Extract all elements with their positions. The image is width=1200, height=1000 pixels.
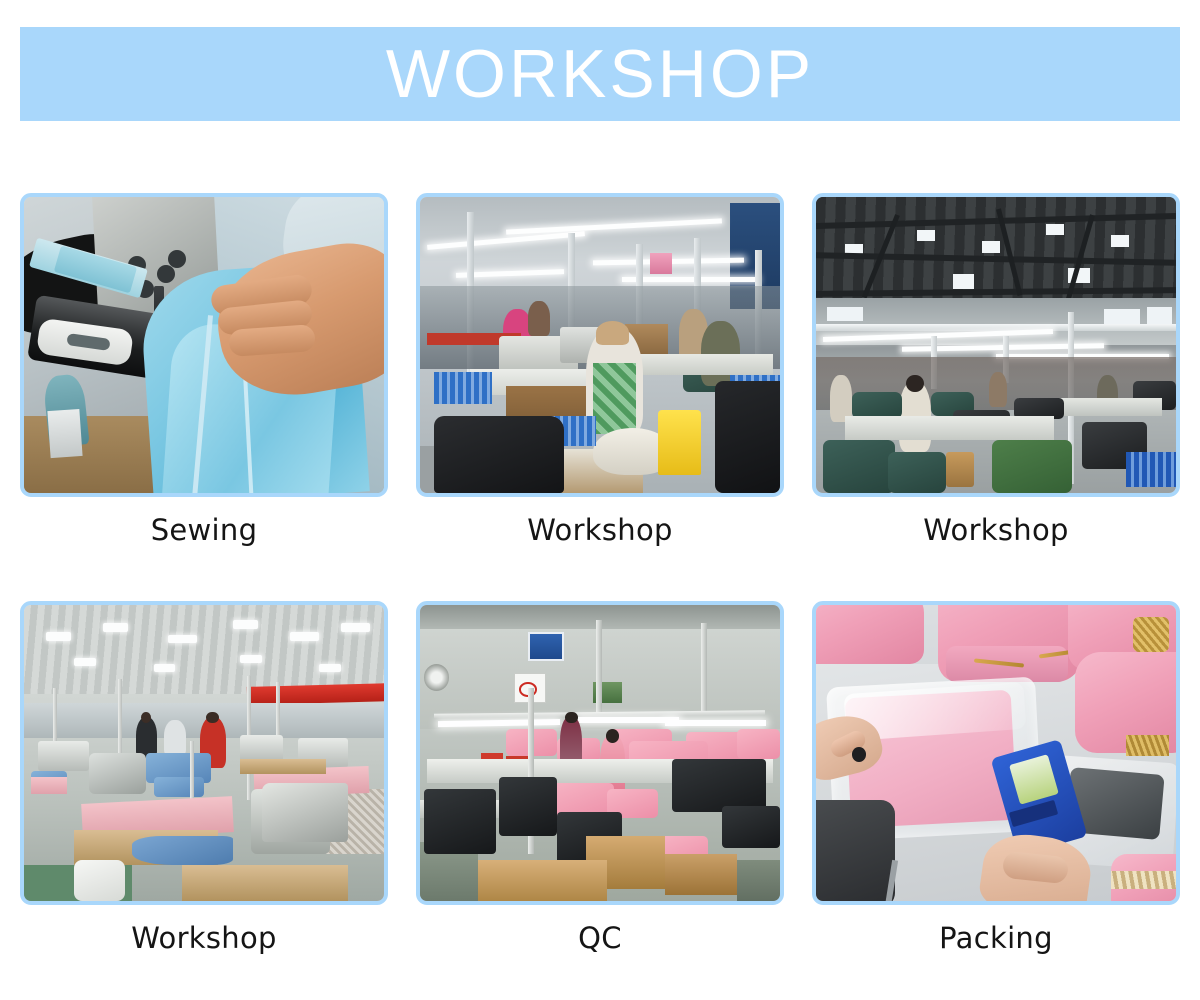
gallery-cell-workshop-bright[interactable]: Workshop (20, 601, 388, 953)
photo-frame-qc[interactable] (416, 601, 784, 905)
page-title: WORKSHOP (386, 40, 814, 108)
photo-packing (816, 605, 1176, 901)
photo-caption: Workshop (527, 513, 672, 548)
gallery-cell-workshop-hall[interactable]: Workshop (812, 193, 1180, 545)
photo-workshop-hall (816, 197, 1176, 493)
photo-qc (420, 605, 780, 901)
gallery-cell-workshop-line[interactable]: Workshop (416, 193, 784, 545)
page-header-banner: WORKSHOP (20, 27, 1180, 121)
gallery-cell-sewing[interactable]: Sewing (20, 193, 388, 545)
photo-caption: Workshop (131, 921, 276, 956)
photo-caption: Sewing (151, 513, 258, 548)
photo-grid: Sewing (20, 193, 1180, 953)
photo-workshop-bright (24, 605, 384, 901)
photo-sewing (24, 197, 384, 493)
photo-frame-sewing[interactable] (20, 193, 388, 497)
photo-frame-workshop-hall[interactable] (812, 193, 1180, 497)
photo-caption: Packing (939, 921, 1053, 956)
photo-caption: QC (578, 921, 622, 956)
photo-frame-workshop-line[interactable] (416, 193, 784, 497)
photo-caption: Workshop (923, 513, 1068, 548)
photo-frame-workshop-bright[interactable] (20, 601, 388, 905)
photo-workshop-line (420, 197, 780, 493)
gallery-cell-packing[interactable]: Packing (812, 601, 1180, 953)
photo-frame-packing[interactable] (812, 601, 1180, 905)
gallery-cell-qc[interactable]: QC (416, 601, 784, 953)
workshop-gallery-page: WORKSHOP (0, 0, 1200, 1000)
